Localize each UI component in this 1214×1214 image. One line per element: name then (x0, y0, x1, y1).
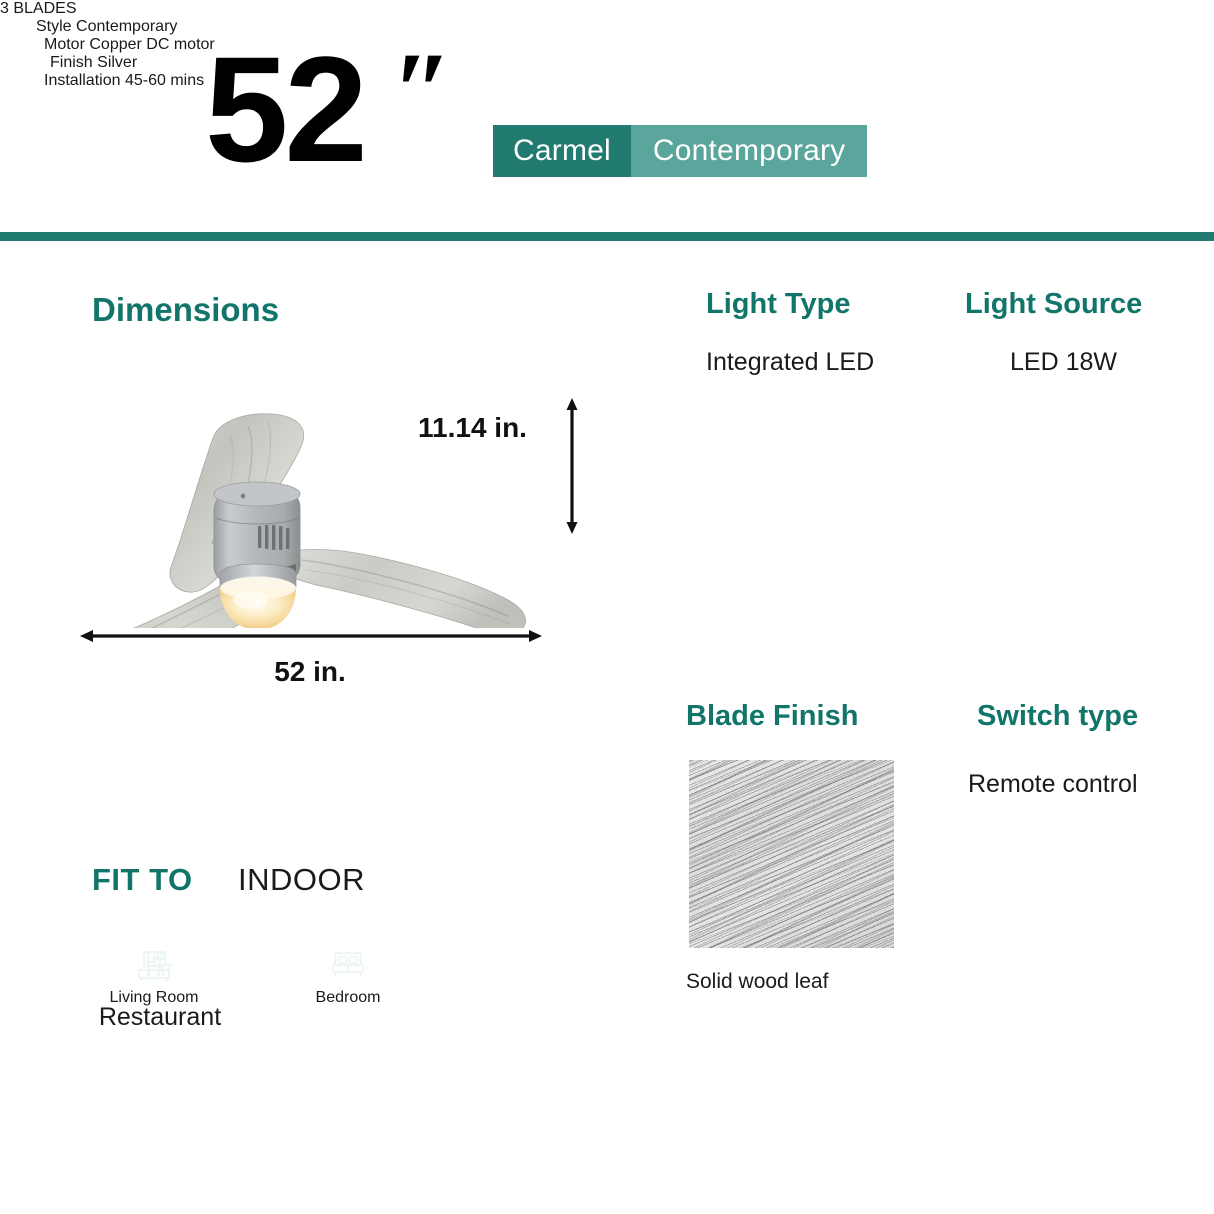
style-name-chip: Contemporary (631, 125, 867, 177)
product-spec-infographic: 52 ″ Carmel Contemporary Dimensions (0, 0, 1214, 1214)
light-source-heading: Light Source (965, 288, 1142, 321)
inches-glyph: ″ (392, 36, 453, 146)
bed-icon (248, 946, 448, 989)
width-dimension-arrow (80, 624, 542, 648)
header: 52 ″ Carmel Contemporary (0, 0, 1214, 236)
fit-to-label: FIT TO (92, 862, 193, 898)
header-divider (0, 232, 1214, 241)
width-dimension-label: 52 in. (0, 656, 620, 688)
switch-type-heading: Switch type (977, 700, 1138, 733)
dimensions-heading: Dimensions (92, 291, 279, 329)
fit-to-icon-list: Living Room Bedroom (60, 946, 660, 1076)
light-type-heading: Light Type (706, 288, 850, 321)
fit-to-item-bedroom: Bedroom (248, 946, 448, 1007)
fan-size-number: 52 (205, 34, 364, 184)
blade-finish-heading: Blade Finish (686, 700, 858, 733)
blade-finish-swatch (689, 760, 894, 948)
fit-to-item-label: Bedroom (248, 989, 448, 1007)
height-dimension-arrow (560, 398, 584, 534)
height-dimension-label: 11.14 in. (418, 412, 527, 444)
blade-finish-caption: Solid wood leaf (686, 970, 828, 994)
fan-blade-right (276, 550, 526, 629)
fit-to-item-label: Restaurant (60, 1003, 260, 1032)
fit-to-item-restaurant: Restaurant (60, 946, 260, 1032)
dining-table-person-icon (60, 946, 260, 989)
light-source-value: LED 18W (1010, 348, 1117, 377)
series-name-chip: Carmel (493, 125, 631, 177)
product-name-banner: Carmel Contemporary (493, 125, 867, 177)
light-type-value: Integrated LED (706, 348, 874, 377)
switch-type-value: Remote control (968, 770, 1138, 799)
fit-to-value: INDOOR (238, 862, 365, 898)
